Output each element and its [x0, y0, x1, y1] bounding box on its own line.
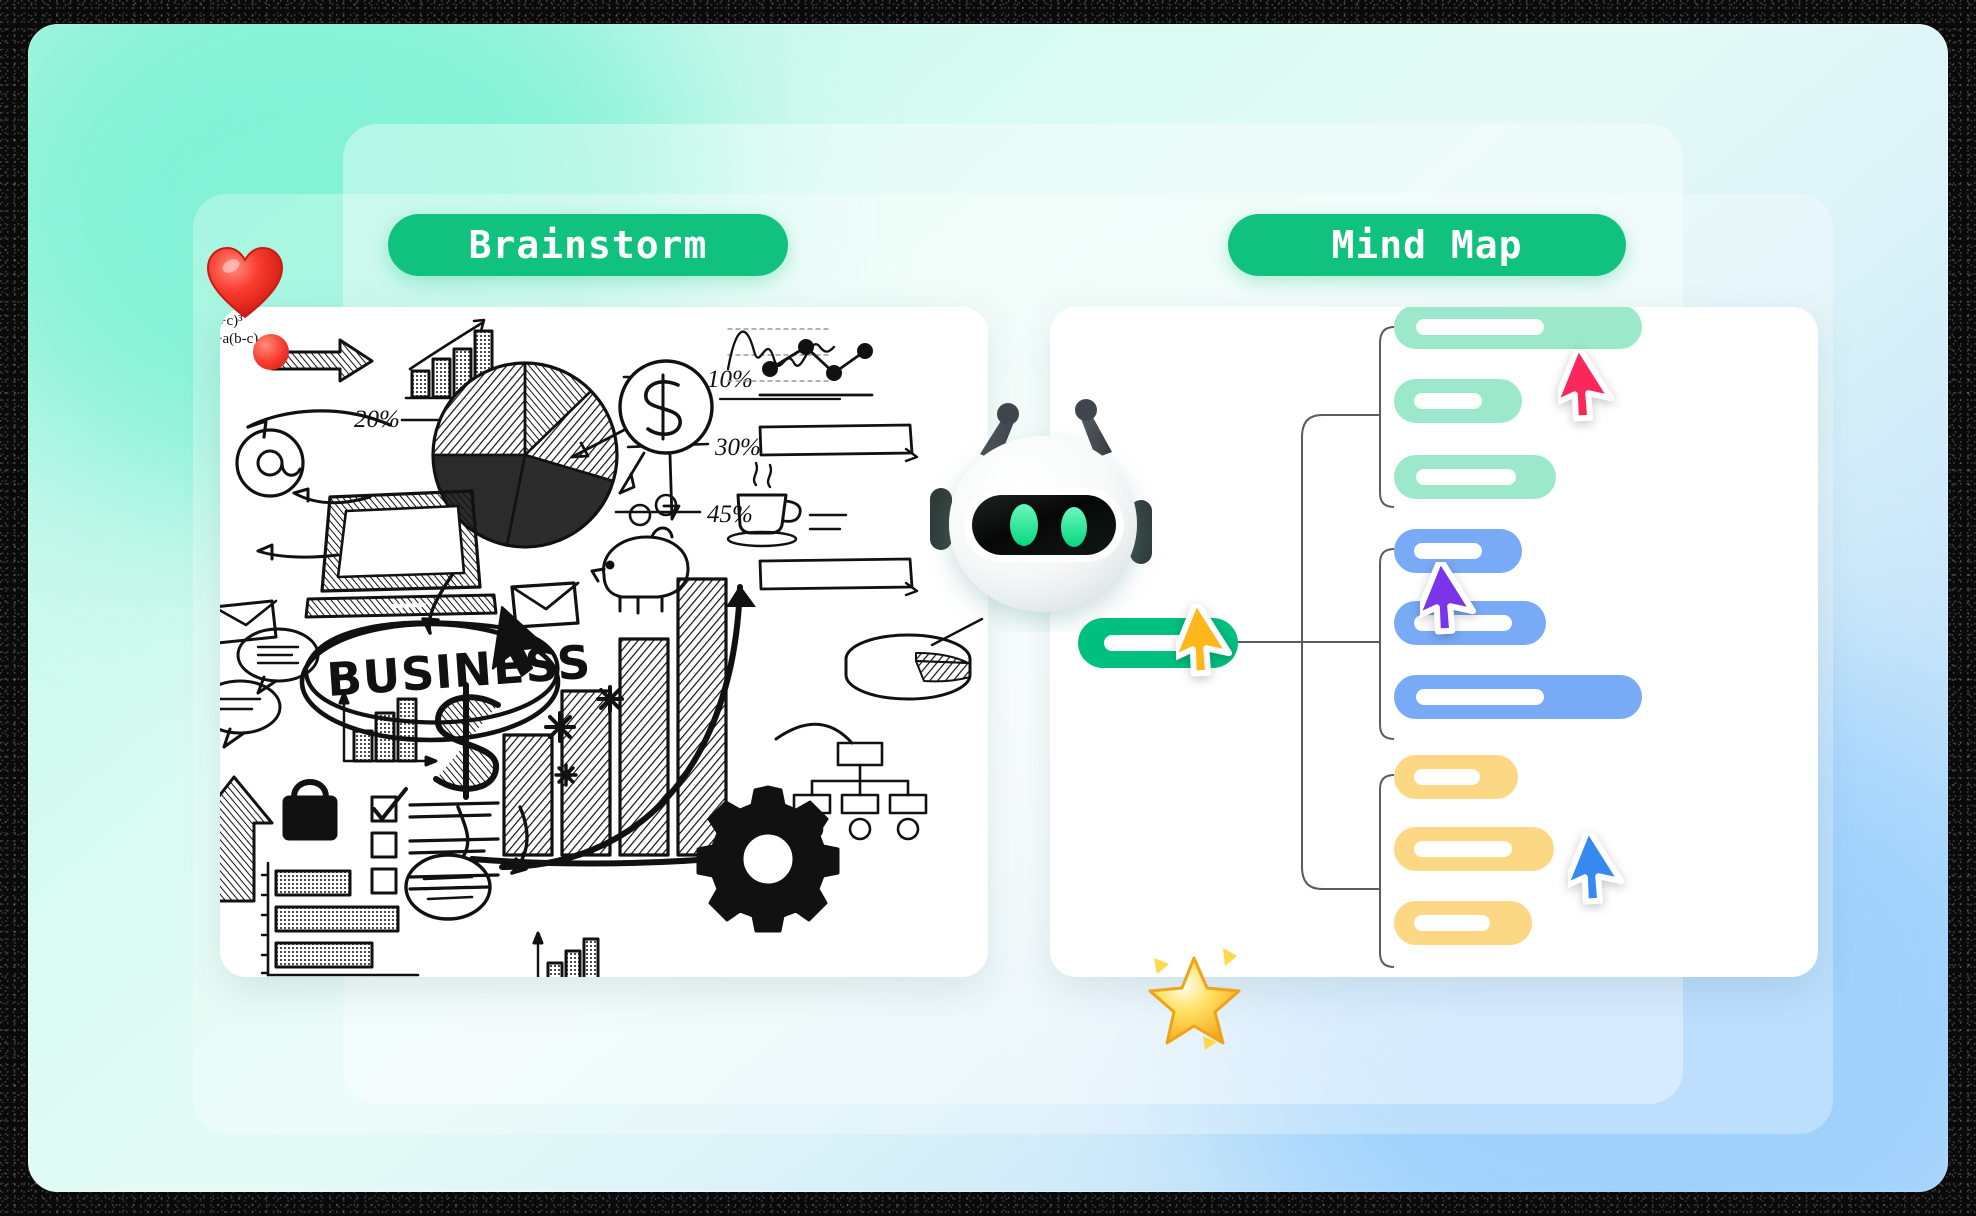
brainstorm-title-label: Brainstorm — [469, 223, 708, 267]
brainstorm-title-pill: Brainstorm — [388, 214, 788, 276]
node-label-bar — [1104, 635, 1222, 651]
mindmap-node-amber-2[interactable] — [1394, 827, 1554, 871]
node-label-bar — [1416, 469, 1516, 485]
svg-text:45%: 45% — [707, 501, 753, 528]
mindmap-node-green-2[interactable] — [1394, 379, 1522, 423]
app-canvas: Brainstorm Mind Map — [28, 24, 1948, 1192]
mindmap-node-amber-1[interactable] — [1394, 755, 1518, 799]
mindmap-node-green-1[interactable] — [1394, 307, 1642, 349]
brainstorm-panel[interactable]: +c)³ +a(b-c) — [220, 307, 988, 977]
mindmap-title-pill: Mind Map — [1228, 214, 1626, 276]
node-label-bar — [1414, 543, 1482, 559]
svg-text:30%: 30% — [714, 434, 761, 461]
outer-frame: Brainstorm Mind Map — [0, 0, 1976, 1216]
mindmap-node-blue-2[interactable] — [1394, 601, 1546, 645]
mindmap-root-node[interactable] — [1078, 618, 1238, 668]
node-label-bar — [1414, 615, 1512, 631]
mindmap-panel[interactable] — [1050, 307, 1818, 977]
svg-text:+a(b-c): +a(b-c) — [220, 331, 258, 347]
doodle-board: +c)³ +a(b-c) — [220, 307, 988, 977]
svg-text:10%: 10% — [707, 366, 753, 393]
mindmap-node-amber-3[interactable] — [1394, 901, 1532, 945]
mindmap-node-green-3[interactable] — [1394, 455, 1556, 499]
mindmap-node-blue-3[interactable] — [1394, 675, 1642, 719]
robot-eye-left — [1010, 504, 1038, 546]
node-label-bar — [1414, 769, 1480, 785]
node-label-bar — [1416, 319, 1544, 335]
mindmap-title-label: Mind Map — [1331, 223, 1522, 267]
node-label-bar — [1414, 915, 1490, 931]
node-label-bar — [1414, 841, 1512, 857]
mindmap-node-blue-1[interactable] — [1394, 529, 1522, 573]
node-label-bar — [1416, 689, 1544, 705]
node-label-bar — [1414, 393, 1482, 409]
svg-text:+c)³: +c)³ — [220, 313, 243, 329]
